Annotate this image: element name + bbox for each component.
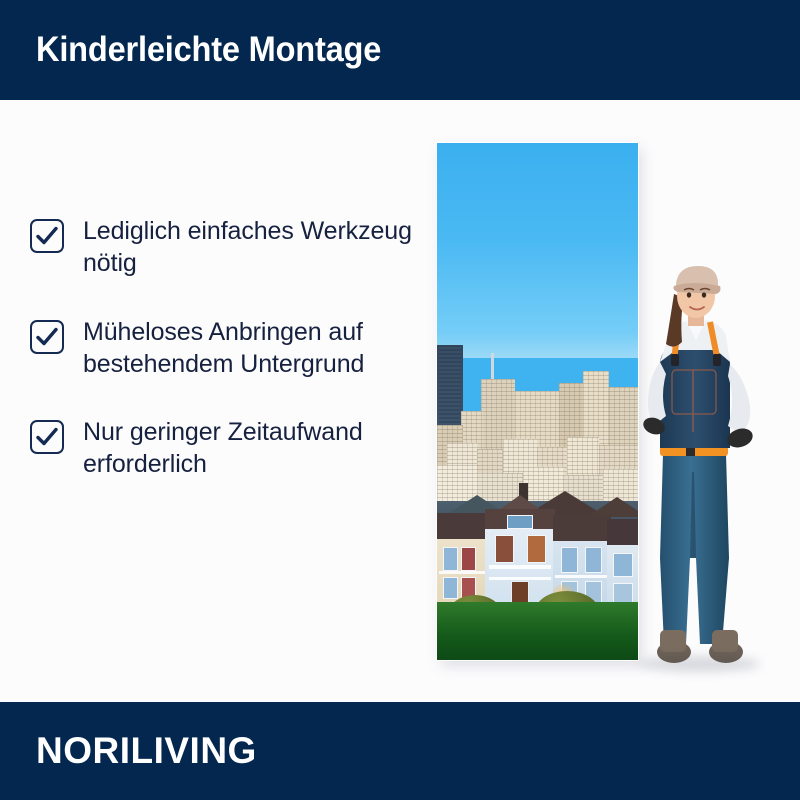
checkbox-check-icon	[30, 219, 64, 253]
list-item: Lediglich einfaches Werkzeug nötig	[30, 215, 430, 280]
feature-text: Lediglich einfaches Werkzeug nötig	[83, 215, 430, 280]
building-spire	[491, 353, 494, 381]
list-item: Nur geringer Zeitaufwand erforderlich	[30, 416, 430, 481]
infographic-page: Kinderleichte Montage Lediglich einfache…	[0, 0, 800, 800]
page-title: Kinderleichte Montage	[36, 30, 381, 70]
checkbox-check-icon	[30, 320, 64, 354]
feature-text: Nur geringer Zeitaufwand erforderlich	[83, 416, 430, 481]
footer-bar: NORILIVING	[0, 702, 800, 800]
brand-logo: NORILIVING	[36, 730, 257, 772]
checkbox-check-icon	[30, 420, 64, 454]
list-item: Müheloses Anbringen auf bestehendem Unte…	[30, 316, 430, 381]
feature-text: Müheloses Anbringen auf bestehendem Unte…	[83, 316, 430, 381]
lawn	[437, 602, 638, 660]
product-canvas-print	[437, 143, 638, 660]
figure-shadow	[638, 656, 760, 672]
feature-list: Lediglich einfaches Werkzeug nötig Mühel…	[30, 215, 430, 517]
handwerkerin-figure	[630, 258, 770, 670]
canvas-artwork	[437, 143, 638, 660]
header-bar: Kinderleichte Montage	[0, 0, 800, 100]
